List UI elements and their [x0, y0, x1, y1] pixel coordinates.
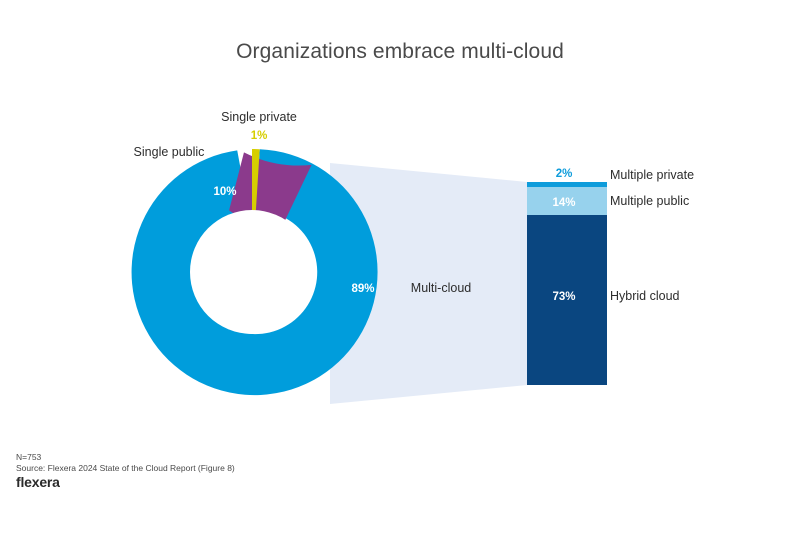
stacked-bar-chart [527, 182, 607, 385]
source-note: Source: Flexera 2024 State of the Cloud … [16, 463, 235, 474]
donut-value-multi-cloud: 89% [351, 283, 374, 295]
flexera-logo: flexera [16, 474, 60, 490]
bar-value-multiple-public: 14% [552, 197, 575, 209]
bar-value-multiple-private: 2% [556, 168, 573, 180]
bar-segment-multiple-private[interactable] [527, 182, 607, 187]
bar-label-hybrid-cloud: Hybrid cloud [610, 289, 680, 303]
donut-label-single-private: Single private [221, 110, 297, 124]
donut-hole [190, 210, 314, 334]
bar-value-hybrid-cloud: 73% [552, 291, 575, 303]
donut-value-single-public: 10% [213, 186, 236, 198]
bar-label-multiple-public: Multiple public [610, 194, 689, 208]
donut-label-single-public: Single public [134, 145, 205, 159]
bar-label-multiple-private: Multiple private [610, 168, 694, 182]
multi-cloud-figure: 89% 10% 1% Single private Single public … [0, 0, 800, 533]
chart-canvas: Organizations embrace multi-cloud 89% 10… [0, 0, 800, 533]
donut-value-single-private: 1% [251, 130, 268, 142]
sample-size-note: N=753 [16, 452, 41, 463]
donut-label-multi-cloud: Multi-cloud [411, 281, 471, 295]
